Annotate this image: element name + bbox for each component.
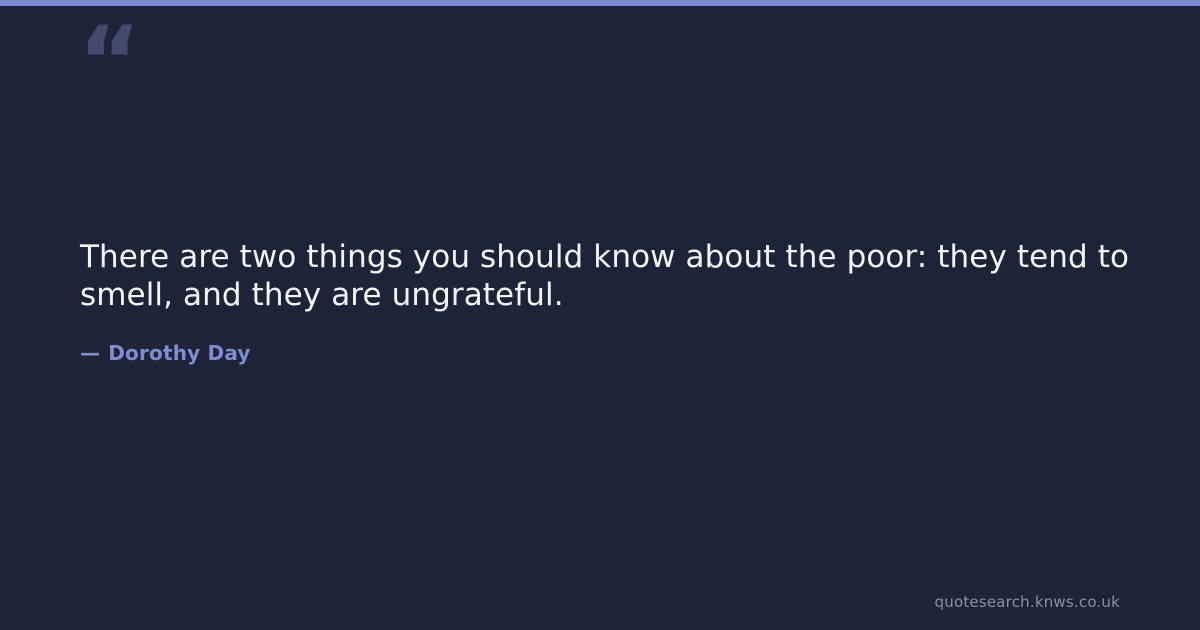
opening-quote-icon: “ — [78, 14, 139, 110]
quote-text: There are two things you should know abo… — [80, 238, 1140, 314]
quote-card: “ There are two things you should know a… — [0, 0, 1200, 630]
site-watermark: quotesearch.knws.co.uk — [935, 592, 1120, 612]
attribution-dash: — — [80, 341, 100, 365]
quote-body: There are two things you should know abo… — [80, 238, 1140, 366]
top-accent-bar — [0, 0, 1200, 6]
quote-attribution: —Dorothy Day — [80, 314, 1140, 366]
attribution-author: Dorothy Day — [108, 341, 250, 365]
